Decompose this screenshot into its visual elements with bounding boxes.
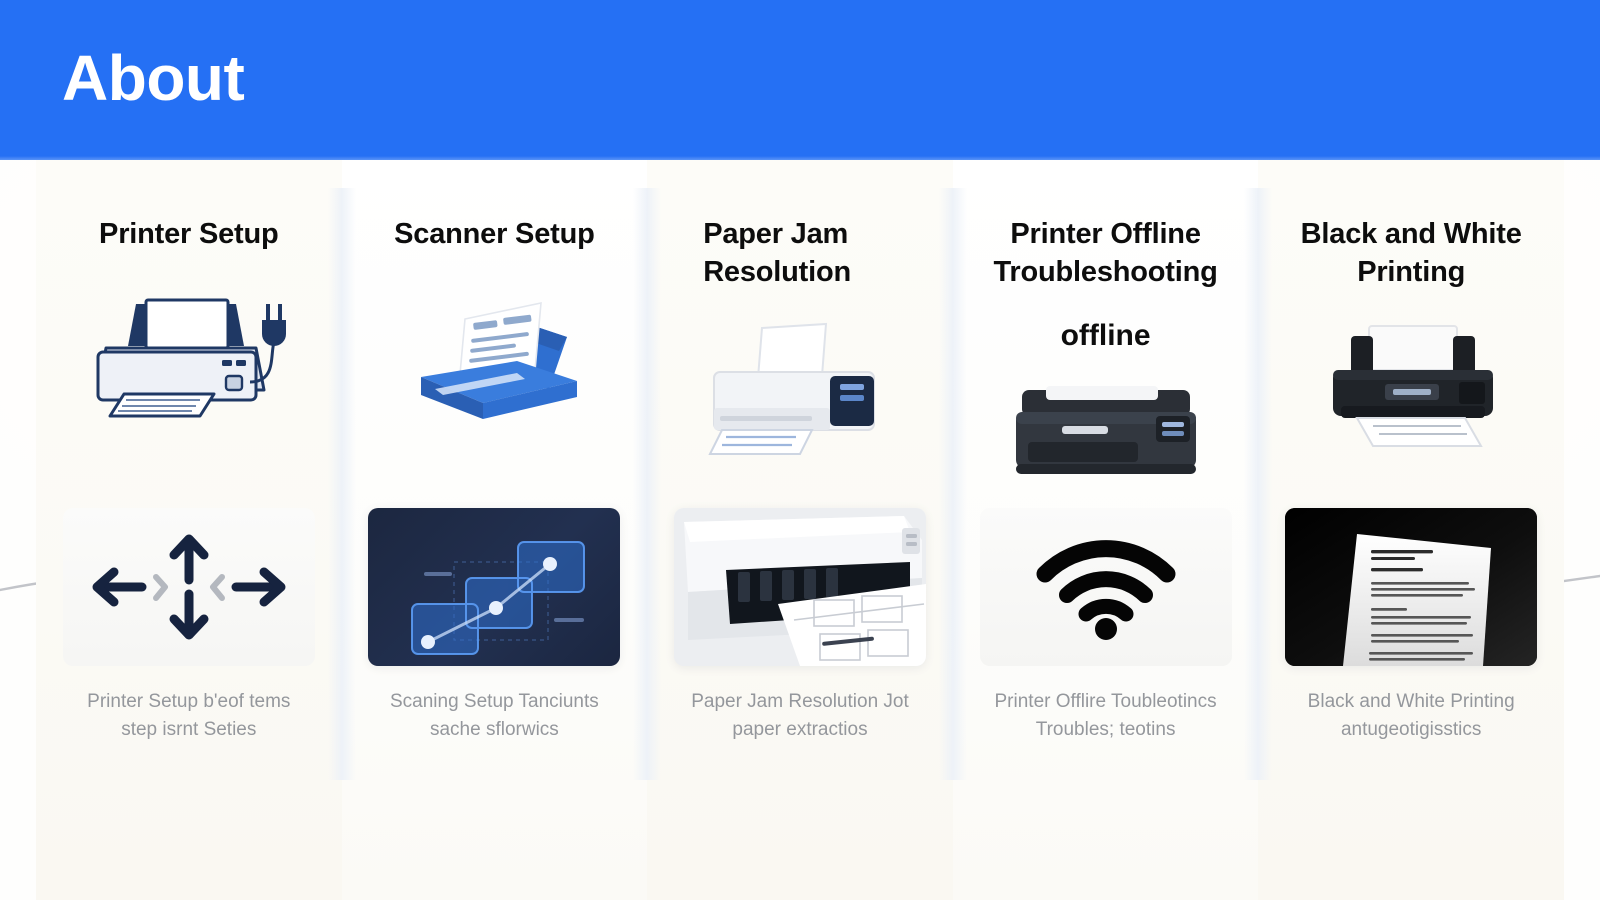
topic-card-strip: Printer Setup [36, 160, 1564, 900]
card-title: Black and White Printing [1258, 216, 1564, 291]
printer-ejecting-paper-illustration [700, 322, 900, 462]
tile-wifi-status[interactable] [980, 508, 1232, 666]
printed-document-photo [1285, 508, 1537, 666]
card-title: Printer Setup [36, 216, 342, 254]
four-direction-arrows-icon [84, 522, 294, 652]
card-caption: Printer Setup b'eof temsstep isrnt Setie… [36, 688, 342, 743]
card-title: Printer Offline Troubleshooting [953, 216, 1259, 291]
scanner-with-document-illustration [399, 285, 589, 425]
black-printer-with-page-illustration [1311, 322, 1511, 462]
card-caption: Scaning Setup Tanciuntssache sflorwics [342, 688, 648, 743]
card-caption: Paper Jam Resolution Jotpaper extractios [647, 688, 953, 743]
card-black-and-white-printing[interactable]: Black and White Printing [1258, 160, 1564, 900]
page-title: About [62, 46, 244, 110]
card-title: Paper Jam Resolution [647, 216, 953, 291]
ascending-step-panels-icon [368, 508, 620, 666]
right-page-margin [1564, 160, 1600, 900]
printer-with-plug-illustration [84, 290, 294, 420]
tile-printed-document-photo[interactable] [1285, 508, 1537, 666]
printer-paper-jam-photo [674, 508, 926, 666]
tile-paper-jam-photo[interactable] [674, 508, 926, 666]
media-tile-slot [647, 508, 953, 666]
tile-four-direction-arrows[interactable] [63, 508, 315, 666]
card-paper-jam-resolution[interactable]: Paper Jam Resolution [647, 160, 953, 900]
card-printer-setup[interactable]: Printer Setup [36, 160, 342, 900]
tile-scanner-setup-steps[interactable] [368, 508, 620, 666]
media-tile-slot [36, 508, 342, 666]
card-caption: Black and White Printingantugeotigisstic… [1258, 688, 1564, 743]
hero-illustration-slot [953, 359, 1259, 509]
media-tile-slot [342, 508, 648, 666]
card-title: Scanner Setup [342, 216, 648, 254]
wifi-icon [1031, 532, 1181, 642]
about-page: About Printer Setup [0, 0, 1600, 900]
card-caption: Printer Offlire ToubleotincsTroubles; te… [953, 688, 1259, 743]
media-tile-slot [1258, 508, 1564, 666]
hero-illustration-slot [647, 317, 953, 467]
page-header: About [0, 0, 1600, 160]
card-subtitle-word: offline [953, 319, 1259, 353]
card-scanner-setup[interactable]: Scanner Setup [342, 160, 648, 900]
hero-illustration-slot [342, 280, 648, 430]
hero-illustration-slot [36, 280, 342, 430]
content-board: Printer Setup [0, 160, 1600, 900]
hero-illustration-slot [1258, 317, 1564, 467]
media-tile-slot [953, 508, 1259, 666]
card-printer-offline-troubleshooting[interactable]: Printer Offline Troubleshooting offline [953, 160, 1259, 900]
dark-printer-illustration [1006, 384, 1206, 484]
left-page-margin [0, 160, 36, 900]
